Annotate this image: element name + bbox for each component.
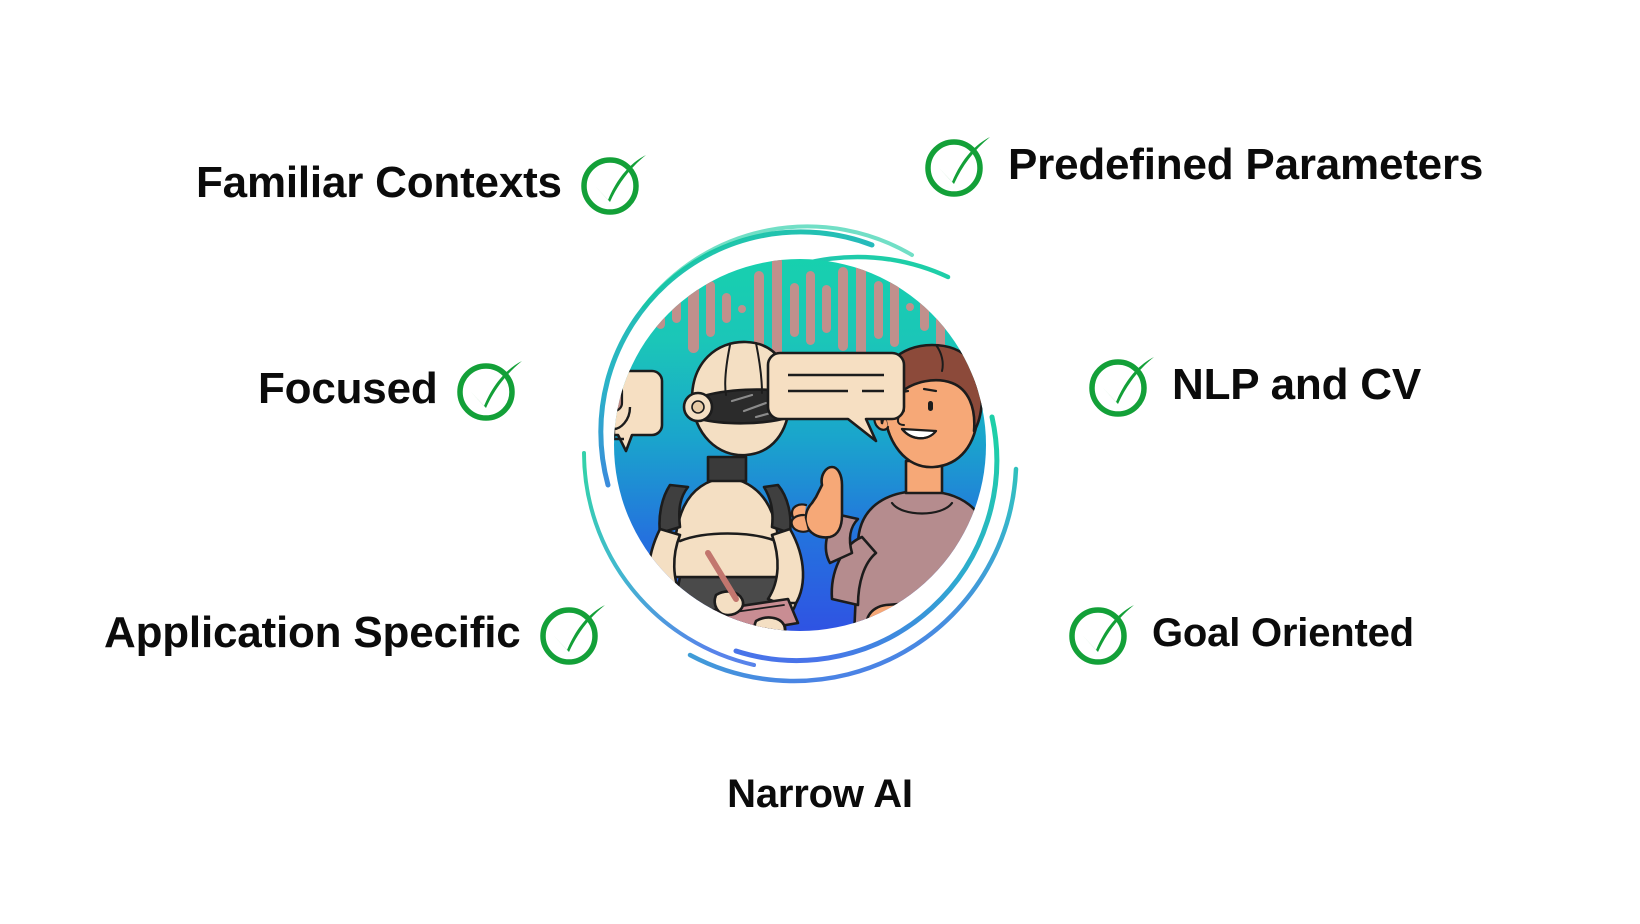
- green-check-circle-icon: [1064, 596, 1138, 670]
- feature-label: Goal Oriented: [1152, 613, 1414, 653]
- feature-label: Focused: [258, 367, 438, 411]
- feature-label: Familiar Contexts: [196, 161, 562, 205]
- feature-label: NLP and CV: [1172, 363, 1421, 407]
- green-check-circle-icon: [576, 146, 650, 220]
- feature-familiar-contexts[interactable]: Familiar Contexts: [196, 146, 650, 220]
- feature-predefined-parameters[interactable]: Predefined Parameters: [920, 128, 1483, 202]
- feature-application-specific[interactable]: Application Specific: [104, 596, 609, 670]
- feature-goal-oriented[interactable]: Goal Oriented: [1064, 596, 1414, 670]
- green-check-circle-icon: [535, 596, 609, 670]
- feature-nlp-and-cv[interactable]: NLP and CV: [1084, 348, 1421, 422]
- green-check-circle-icon: [452, 352, 526, 426]
- feature-label: Application Specific: [104, 611, 521, 655]
- green-check-circle-icon: [1084, 348, 1158, 422]
- infographic-canvas: Familiar Contexts Focused Application Sp…: [0, 0, 1640, 924]
- green-check-circle-icon: [920, 128, 994, 202]
- page-title: Narrow AI: [0, 772, 1640, 817]
- feature-focused[interactable]: Focused: [258, 352, 526, 426]
- feature-label: Predefined Parameters: [1008, 143, 1483, 187]
- central-illustration: [540, 185, 1060, 705]
